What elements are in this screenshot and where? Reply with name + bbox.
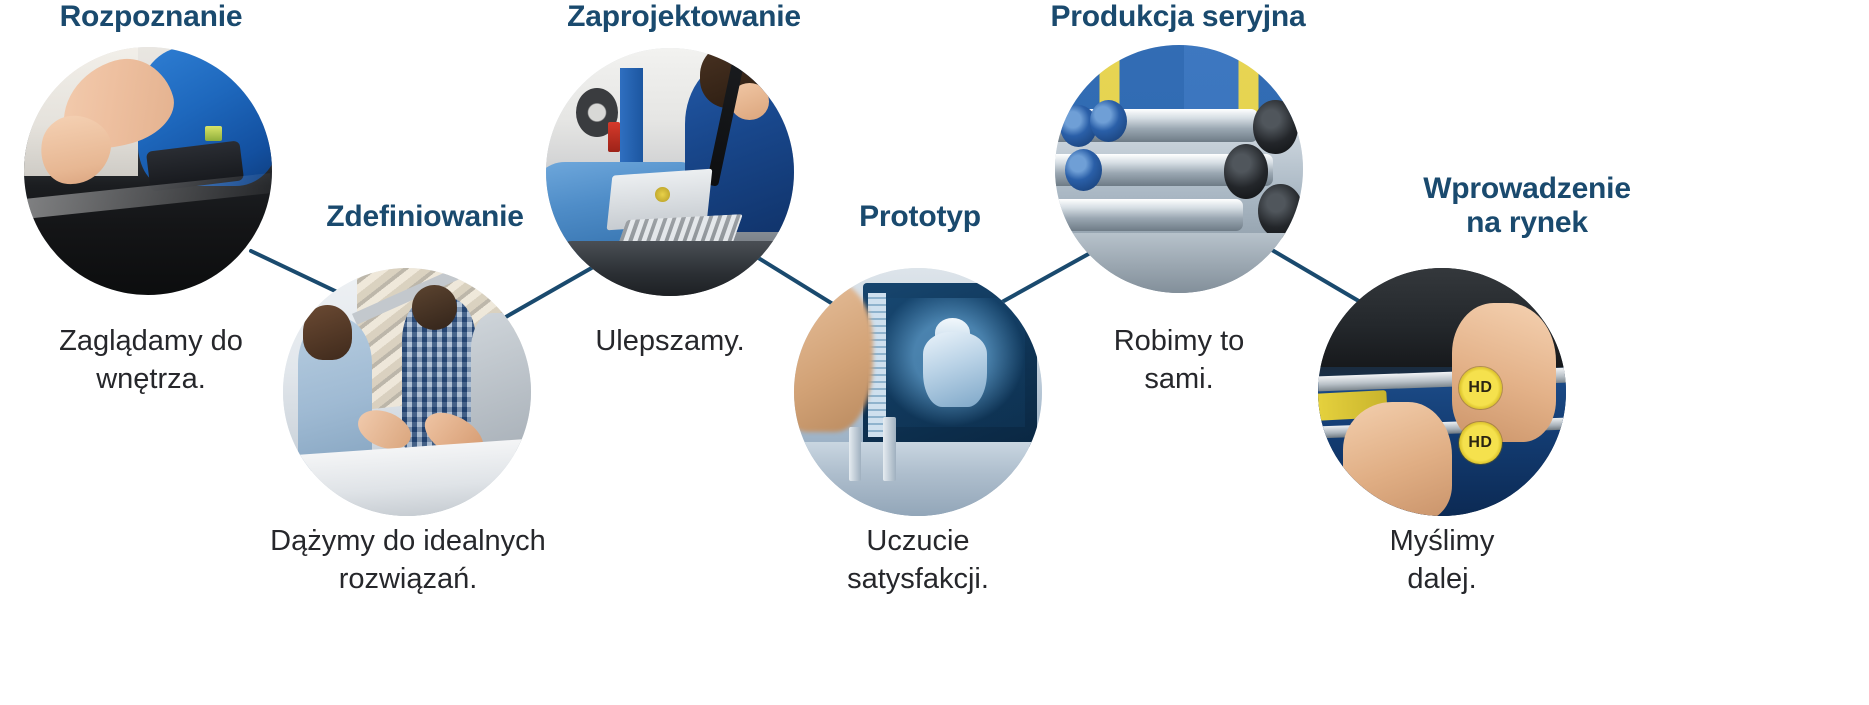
step-5-image xyxy=(1055,45,1303,293)
step-5-caption: Robimy to sami. xyxy=(1059,322,1299,399)
step-5-heading: Produkcja seryjna xyxy=(1013,0,1343,34)
step-2-image xyxy=(283,268,531,516)
process-diagram: Rozpoznanie Zaglądamy do wnętrza. Zdefin… xyxy=(0,0,1869,705)
hd-sticker-secondary: HD xyxy=(1459,422,1501,464)
hd-sticker: HD xyxy=(1459,367,1501,409)
team-reviewing-blueprints-photo xyxy=(283,268,531,516)
step-2-heading: Zdefiniowanie xyxy=(285,200,565,234)
step-3-heading: Zaprojektowanie xyxy=(528,0,840,34)
step-4-heading: Prototyp xyxy=(800,200,1040,234)
step-4-image xyxy=(794,268,1042,516)
step-1-image xyxy=(24,47,272,295)
mechanic-inspecting-car-hood-photo xyxy=(24,47,272,295)
step-6-caption: Myślimy dalej. xyxy=(1322,522,1562,599)
step-1-heading: Rozpoznanie xyxy=(16,0,286,34)
step-6-image: HD HD xyxy=(1318,268,1566,516)
step-3-image xyxy=(546,48,794,296)
step-1-caption: Zaglądamy do wnętrza. xyxy=(16,322,286,399)
hd-sticker-label: HD xyxy=(1459,379,1501,397)
step-3-caption: Ulepszamy. xyxy=(534,322,806,360)
cad-model-on-screen-photo xyxy=(794,268,1042,516)
technician-with-laptop-at-engine-photo xyxy=(546,48,794,296)
hd-sticker-secondary-label: HD xyxy=(1459,434,1501,452)
hand-applying-hd-label-photo: HD HD xyxy=(1318,268,1566,516)
step-2-caption: Dążymy do idealnych rozwiązań. xyxy=(250,522,566,599)
step-4-caption: Uczucie satysfakcji. xyxy=(798,522,1038,599)
shock-absorbers-production-line-photo xyxy=(1055,45,1303,293)
step-6-heading: Wprowadzenie na rynek xyxy=(1332,172,1722,239)
